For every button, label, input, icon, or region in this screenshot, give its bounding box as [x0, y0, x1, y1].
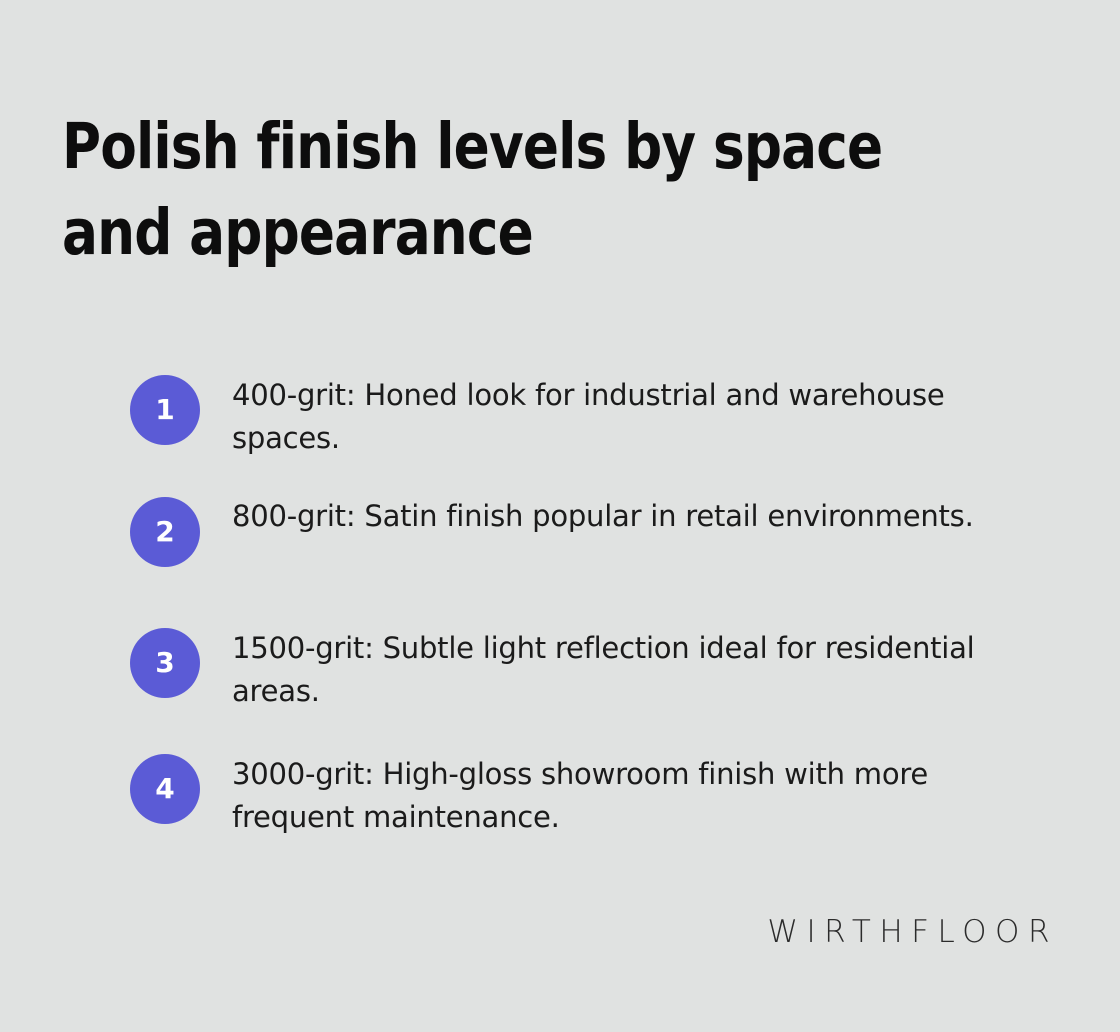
page-title: Polish finish levels by space and appear…: [62, 104, 946, 276]
list-item: 1 400-grit: Honed look for industrial an…: [130, 368, 1060, 460]
list-item-text: 1500-grit: Subtle light reflection ideal…: [232, 621, 1048, 713]
list-number-badge: 1: [130, 375, 200, 445]
list-number-badge: 2: [130, 497, 200, 567]
list-item-text: 800-grit: Satin finish popular in retail…: [232, 495, 1048, 538]
list-item-text: 3000-grit: High-gloss showroom finish wi…: [232, 747, 1048, 839]
brand-wordmark: WIRTHFLOOR: [767, 917, 1058, 948]
list-number-badge: 3: [130, 628, 200, 698]
list-item: 2 800-grit: Satin finish popular in reta…: [130, 495, 1060, 579]
list-item: 4 3000-grit: High-gloss showroom finish …: [130, 747, 1060, 839]
numbered-list: 1 400-grit: Honed look for industrial an…: [130, 368, 1060, 839]
list-item: 3 1500-grit: Subtle light reflection ide…: [130, 621, 1060, 713]
list-number-badge: 4: [130, 754, 200, 824]
slide-canvas: Polish finish levels by space and appear…: [0, 0, 1120, 1032]
list-item-text: 400-grit: Honed look for industrial and …: [232, 368, 1048, 460]
